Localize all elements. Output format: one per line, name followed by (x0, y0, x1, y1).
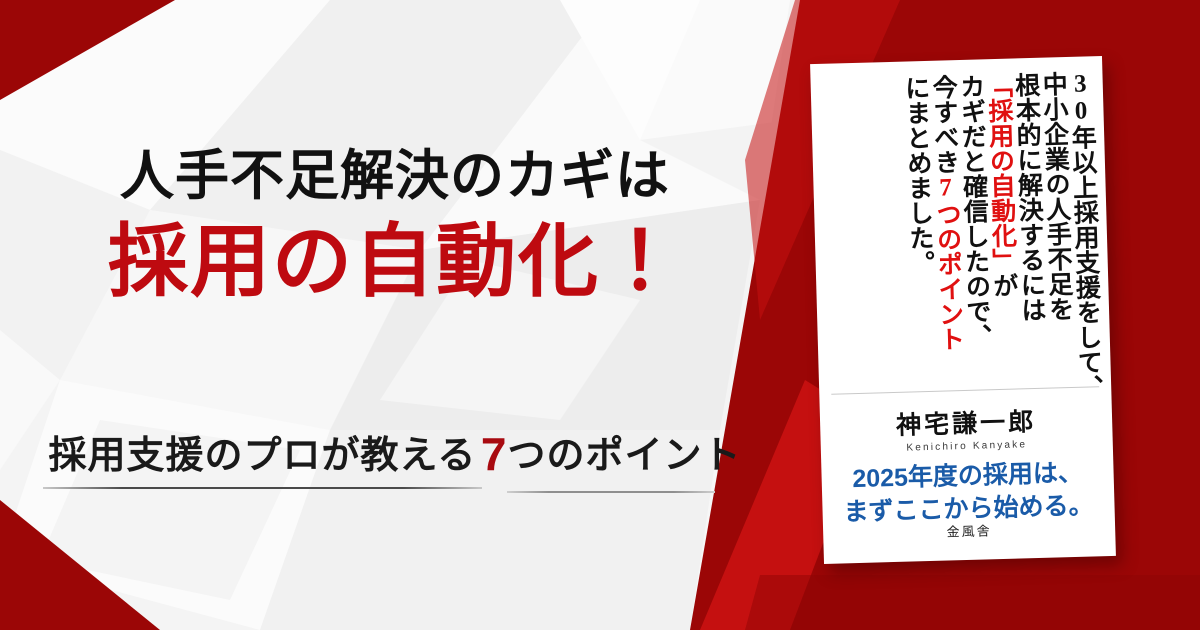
book-author-block: 神宅謙一郎 Kenichiro Kanyake (820, 400, 1113, 456)
headline-group: 人手不足解決のカギは 採用の自動化！ (0, 148, 790, 303)
book-divider-rule (831, 386, 1099, 394)
banner-canvas: 人手不足解決のカギは 採用の自動化！ 採用支援のプロが教える 7つのポイント 3… (0, 0, 1200, 630)
seven-number: 7 (481, 428, 508, 480)
book-cover[interactable]: 30年以上採用支援をして、 中小企業の人手不足を 根本的に解決するには 「採用の… (810, 56, 1116, 564)
red-shape-right-dark-bottom (745, 575, 1200, 630)
book-cover-inner: 30年以上採用支援をして、 中小企業の人手不足を 根本的に解決するには 「採用の… (810, 56, 1116, 564)
headline-line-2: 採用の自動化！ (0, 220, 790, 303)
subheadline-group: 採用支援のプロが教える 7つのポイント (0, 406, 790, 493)
book-title-line-6-black: 今すべき (929, 74, 959, 175)
subheadline-line-2: 7つのポイント (481, 424, 742, 493)
subheadline-line-1: 採用支援のプロが教える (49, 431, 477, 489)
book-vertical-title-block: 30年以上採用支援をして、 中小企業の人手不足を 根本的に解決するには 「採用の… (820, 70, 1100, 377)
book-title-line-4-suffix: が (989, 272, 1017, 298)
headline-line-1: 人手不足解決のカギは (0, 148, 790, 204)
headline-column: 人手不足解決のカギは 採用の自動化！ 採用支援のプロが教える 7つのポイント (0, 0, 790, 630)
subheadline-line-2-text: つのポイント (507, 435, 741, 477)
